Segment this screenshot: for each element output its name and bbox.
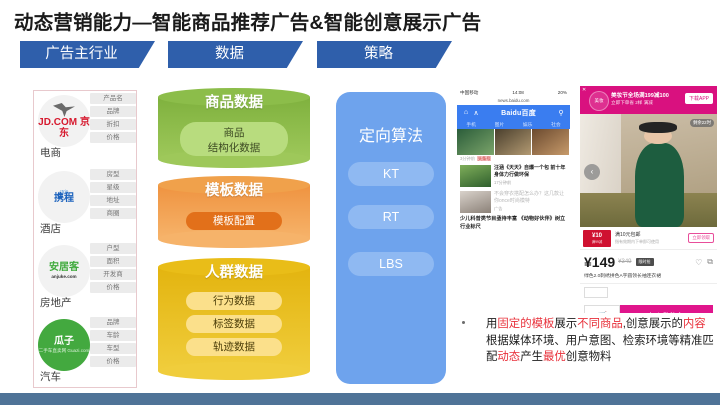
status-time: 14:08 [512, 88, 524, 97]
jd-logo: JD.COM 京东 [38, 95, 90, 147]
add-to-cart-button[interactable]: 加入购物车 [620, 305, 713, 313]
data-cylinder-product: 商品数据 商品结构化数据 [158, 88, 310, 168]
anjuke-logo: 安居客 anjuke.com [38, 245, 90, 297]
cylinder-items: 商品结构化数据 [158, 122, 310, 161]
nav-tab[interactable]: 手机 [457, 121, 485, 128]
news-thumbnail [457, 129, 494, 155]
industry-attributes: 品牌 车龄 车型 价格 [90, 317, 136, 369]
attribute-chip: 房型 [90, 169, 136, 180]
jd-bird-icon [53, 103, 75, 117]
person-icon[interactable]: ∧ [471, 109, 481, 117]
industry-item-hotel: ctrip 携程 房型 星级 地址 商圈 酒店 [34, 169, 138, 241]
share-icon[interactable]: ⧉ [707, 257, 713, 267]
cylinder-title: 商品数据 [158, 91, 310, 112]
countdown-badge: 剩余22时 [690, 119, 714, 127]
cart-icon[interactable]: 🛒 [584, 305, 620, 313]
news-image [460, 165, 491, 187]
ctrip-logo: ctrip 携程 [38, 171, 90, 223]
industry-attributes: 户型 面积 开发商 价格 [90, 243, 136, 295]
news-title: 汪涵《天天》自爆一个包 前十年 身体力行做环保 [494, 165, 567, 179]
size-hint [612, 290, 613, 295]
coupon-condition: 满99减 [592, 239, 603, 244]
search-icon[interactable]: ⚲ [556, 109, 566, 117]
download-app-button[interactable]: 下载APP [685, 93, 713, 104]
hero-model-dress [635, 143, 684, 227]
attribute-chip: 产品名 [90, 93, 136, 104]
baidu-nav-tabs: 手机 图片 娱乐 社会 [457, 120, 570, 129]
coupon-name: 满10元包邮 [615, 231, 688, 238]
cylinder-item-pill: 标签数据 [186, 315, 282, 333]
status-bar: 中国移动 14:08 20% [457, 88, 570, 97]
attribute-chip: 地址 [90, 195, 136, 206]
tab-label: 策略 [317, 41, 452, 68]
news-body: 汪涵《天天》自爆一个包 前十年 身体力行做环保 17分钟前 [494, 165, 567, 187]
original-price: ¥349 [618, 259, 631, 265]
price-tag: 限时抢 [636, 258, 654, 266]
attribute-chip: 价格 [90, 282, 136, 293]
coupon-row[interactable]: ¥10 满99减 满10元包邮 指有效期内下单即可使用 立即领取 [580, 227, 717, 250]
guazi-logo: 瓜子 二手车直卖网 Guazi.com [38, 319, 90, 371]
attribute-chip: 面积 [90, 256, 136, 267]
attribute-chip: 车龄 [90, 330, 136, 341]
tab-label: 数据 [168, 41, 303, 68]
jd-logo-text: JD.COM 京东 [38, 118, 90, 139]
hero-model-hat [639, 122, 677, 133]
industry-item-realestate: 安居客 anjuke.com 户型 面积 开发商 价格 房地产 [34, 243, 138, 315]
news-body: 不会穿衣搭配怎么办？这几款让你once时尚模特 广告 [494, 191, 567, 213]
industry-panel: JD.COM 京东 产品名 品牌 折扣 价格 电商 ctrip 携程 房型 星级… [33, 90, 137, 388]
algorithm-item-kt: KT [348, 162, 434, 186]
attribute-chip: 价格 [90, 132, 136, 143]
cylinder-title: 人群数据 [158, 261, 310, 282]
bullet-text: 用固定的模板展示不同商品,创意展示的内容根据媒体环境、用户意图、检索环境等精准匹… [462, 316, 714, 366]
nav-tab[interactable]: 图片 [485, 121, 513, 128]
promo-subtitle: 立即下单省 2样 满减 [611, 100, 653, 106]
page-title: 动态营销能力—智能商品推荐广告&智能创意展示广告 [14, 6, 481, 35]
industry-category-label: 酒店 [40, 221, 61, 236]
browser-url-bar[interactable]: news.baidu.com [457, 97, 570, 105]
promo-title: 美妆节全场满199减100 [611, 91, 669, 99]
size-selector-row[interactable] [580, 283, 717, 301]
current-price: ¥149 [584, 254, 615, 270]
guazi-logo-sub: 二手车直卖网 Guazi.com [39, 348, 90, 353]
baidu-header: ⌂ ∧ Baidu百度 ⚲ [457, 105, 570, 120]
phone-screenshot-news: 中国移动 14:08 20% news.baidu.com ⌂ ∧ Baidu百… [457, 88, 570, 233]
industry-category-label: 房地产 [40, 295, 72, 310]
news-image [460, 191, 491, 213]
cylinder-items: 模板配置 [158, 212, 310, 235]
guazi-logo-text: 瓜子 [54, 337, 74, 348]
industry-item-auto: 瓜子 二手车直卖网 Guazi.com 品牌 车龄 车型 价格 汽车 [34, 317, 138, 389]
tab-label: 广告主行业 [20, 41, 155, 68]
coupon-amount-badge: ¥10 满99减 [583, 230, 611, 247]
attribute-chip: 价格 [90, 356, 136, 367]
price-row: ¥149 ¥349 限时抢 ♡ ⧉ [580, 250, 717, 272]
close-icon[interactable]: ✕ [582, 87, 586, 93]
cylinder-item-pill: 模板配置 [186, 212, 282, 230]
news-list-item-ad[interactable]: 不会穿衣搭配怎么办？这几款让你once时尚模特 广告 [457, 189, 570, 215]
attribute-chip: 车型 [90, 343, 136, 354]
news-meta: 3分钟前 [457, 232, 570, 233]
targeting-algorithm-panel: 定向算法 KT RT LBS [336, 92, 446, 384]
size-option[interactable] [584, 287, 608, 298]
anjuke-logo-sub: anjuke.com [51, 274, 76, 279]
favorite-heart-icon[interactable]: ♡ [695, 258, 702, 267]
industry-category-label: 汽车 [40, 369, 61, 384]
home-icon[interactable]: ⌂ [461, 109, 471, 116]
cylinder-title: 模板数据 [158, 179, 310, 200]
attribute-chip: 星级 [90, 182, 136, 193]
bullet-note: 用固定的模板展示不同商品,创意展示的内容根据媒体环境、用户意图、检索环境等精准匹… [462, 316, 714, 366]
promo-banner[interactable]: ✕ 美妆 美妆节全场满199减100 立即下单省 2样 满减 下载APP [580, 86, 717, 114]
status-battery: 20% [558, 88, 567, 97]
promo-badge-icon: 美妆 [589, 91, 609, 111]
tab-strategy[interactable]: 策略 [317, 41, 452, 68]
cylinder-item-pill: 轨迹数据 [186, 338, 282, 356]
cylinder-item-pill: 商品结构化数据 [180, 122, 288, 156]
attribute-chip: 开发商 [90, 269, 136, 280]
status-carrier: 中国移动 [460, 88, 478, 97]
slide-canvas: 动态营销能力—智能商品推荐广告&智能创意展示广告 广告主行业 数据 策略 JD.… [0, 0, 720, 405]
nav-tab[interactable]: 娱乐 [514, 121, 542, 128]
bullet-dot-icon [462, 321, 465, 324]
cylinder-bottom [158, 362, 310, 380]
cylinder-item-pill: 行为数据 [186, 292, 282, 310]
news-title: 不会穿衣搭配怎么办？这几款让你once时尚模特 [494, 191, 567, 205]
attribute-chip: 品牌 [90, 106, 136, 117]
data-cylinder-audience: 人群数据 行为数据 标签数据 轨迹数据 [158, 258, 310, 382]
industry-attributes: 产品名 品牌 折扣 价格 [90, 93, 136, 145]
industry-attributes: 房型 星级 地址 商圈 [90, 169, 136, 221]
data-cylinder-template: 模板数据 模板配置 [158, 176, 310, 248]
nav-tab[interactable]: 社会 [542, 121, 570, 128]
tab-advertiser-industry[interactable]: 广告主行业 [20, 41, 155, 68]
anjuke-logo-text: 安居客 [49, 263, 79, 274]
algorithm-title: 定向算法 [336, 122, 446, 146]
phone-screenshot-shop: ✕ 美妆 美妆节全场满199减100 立即下单省 2样 满减 下载APP ‹ 剩… [580, 86, 717, 313]
algorithm-item-lbs: LBS [348, 252, 434, 276]
attribute-chip: 户型 [90, 243, 136, 254]
cart-action-bar: 🛒 加入购物车 [580, 301, 717, 313]
news-thumbnail-row[interactable] [457, 129, 570, 155]
bottom-bar [0, 393, 720, 405]
attribute-chip: 品牌 [90, 317, 136, 328]
claim-coupon-button[interactable]: 立即领取 [688, 233, 714, 243]
baidu-logo: Baidu百度 [481, 108, 556, 118]
news-time: 3分钟前 [460, 156, 475, 161]
tab-data[interactable]: 数据 [168, 41, 303, 68]
ad-label: 广告 [494, 205, 567, 213]
news-tag: 头条号 [477, 156, 492, 161]
coupon-info: 满10元包邮 指有效期内下单即可使用 [615, 231, 688, 245]
attribute-chip: 折扣 [90, 119, 136, 130]
news-headline[interactable]: 少儿科普类节目亟待丰富 《动物好伙伴》树立行业标尺 [457, 215, 570, 232]
news-thumbnail [532, 129, 569, 155]
ctrip-logo-text: 携程 [54, 194, 74, 205]
industry-category-label: 电商 [40, 145, 61, 160]
industry-item-ecommerce: JD.COM 京东 产品名 品牌 折扣 价格 电商 [34, 93, 138, 165]
news-meta: 3分钟前头条号 [457, 155, 570, 163]
coupon-desc: 指有效期内下单即可使用 [615, 239, 688, 245]
algorithm-item-rt: RT [348, 205, 434, 229]
news-meta: 17分钟前 [494, 179, 567, 187]
cylinder-items: 行为数据 标签数据 轨迹数据 [158, 292, 310, 361]
news-thumbnail [495, 129, 532, 155]
attribute-chip: 商圈 [90, 208, 136, 219]
news-list-item[interactable]: 汪涵《天天》自爆一个包 前十年 身体力行做环保 17分钟前 [457, 163, 570, 189]
product-description: 绿色2.0刺绣拼色A字圆领长袖连衣裙 [580, 272, 717, 283]
prev-image-icon[interactable]: ‹ [584, 164, 600, 180]
product-hero-image[interactable]: ‹ 剩余22时 [580, 114, 717, 227]
